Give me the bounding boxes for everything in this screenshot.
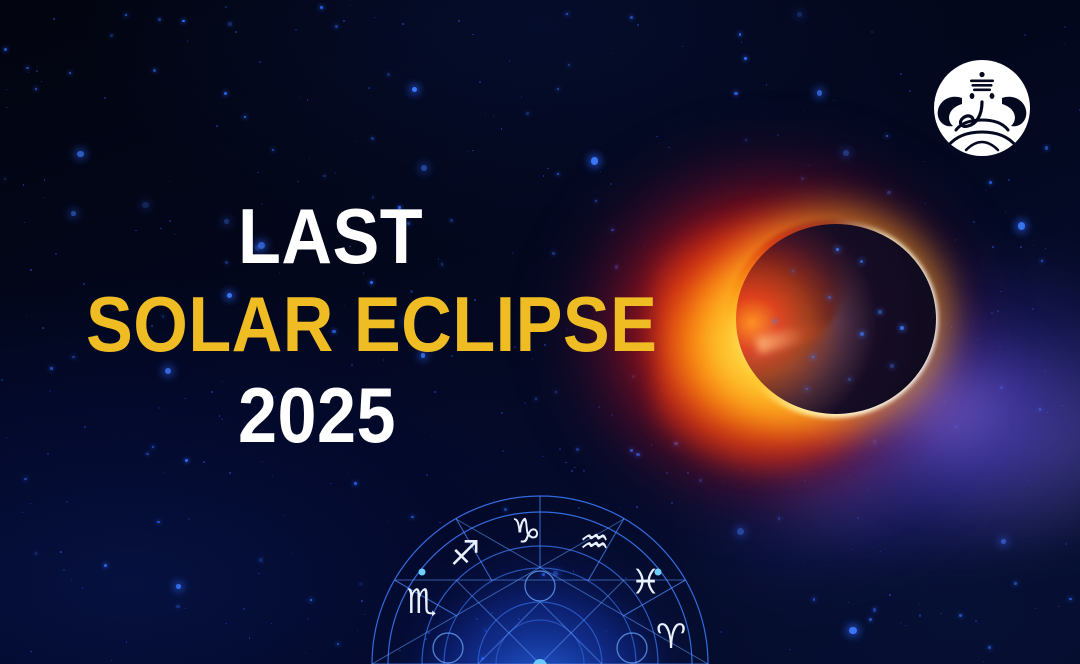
ganesha-logo[interactable] (932, 58, 1032, 158)
headline-line-1: LAST (238, 198, 814, 274)
headline-line-3: 2025 (238, 377, 814, 453)
headline-line-2: SOLAR ECLIPSE (86, 286, 799, 362)
eclipse-banner: ♏♐♑♒♓♈ LAST SOLAR ECLIPSE 2025 (0, 0, 1080, 664)
headline: LAST SOLAR ECLIPSE 2025 (238, 198, 878, 453)
